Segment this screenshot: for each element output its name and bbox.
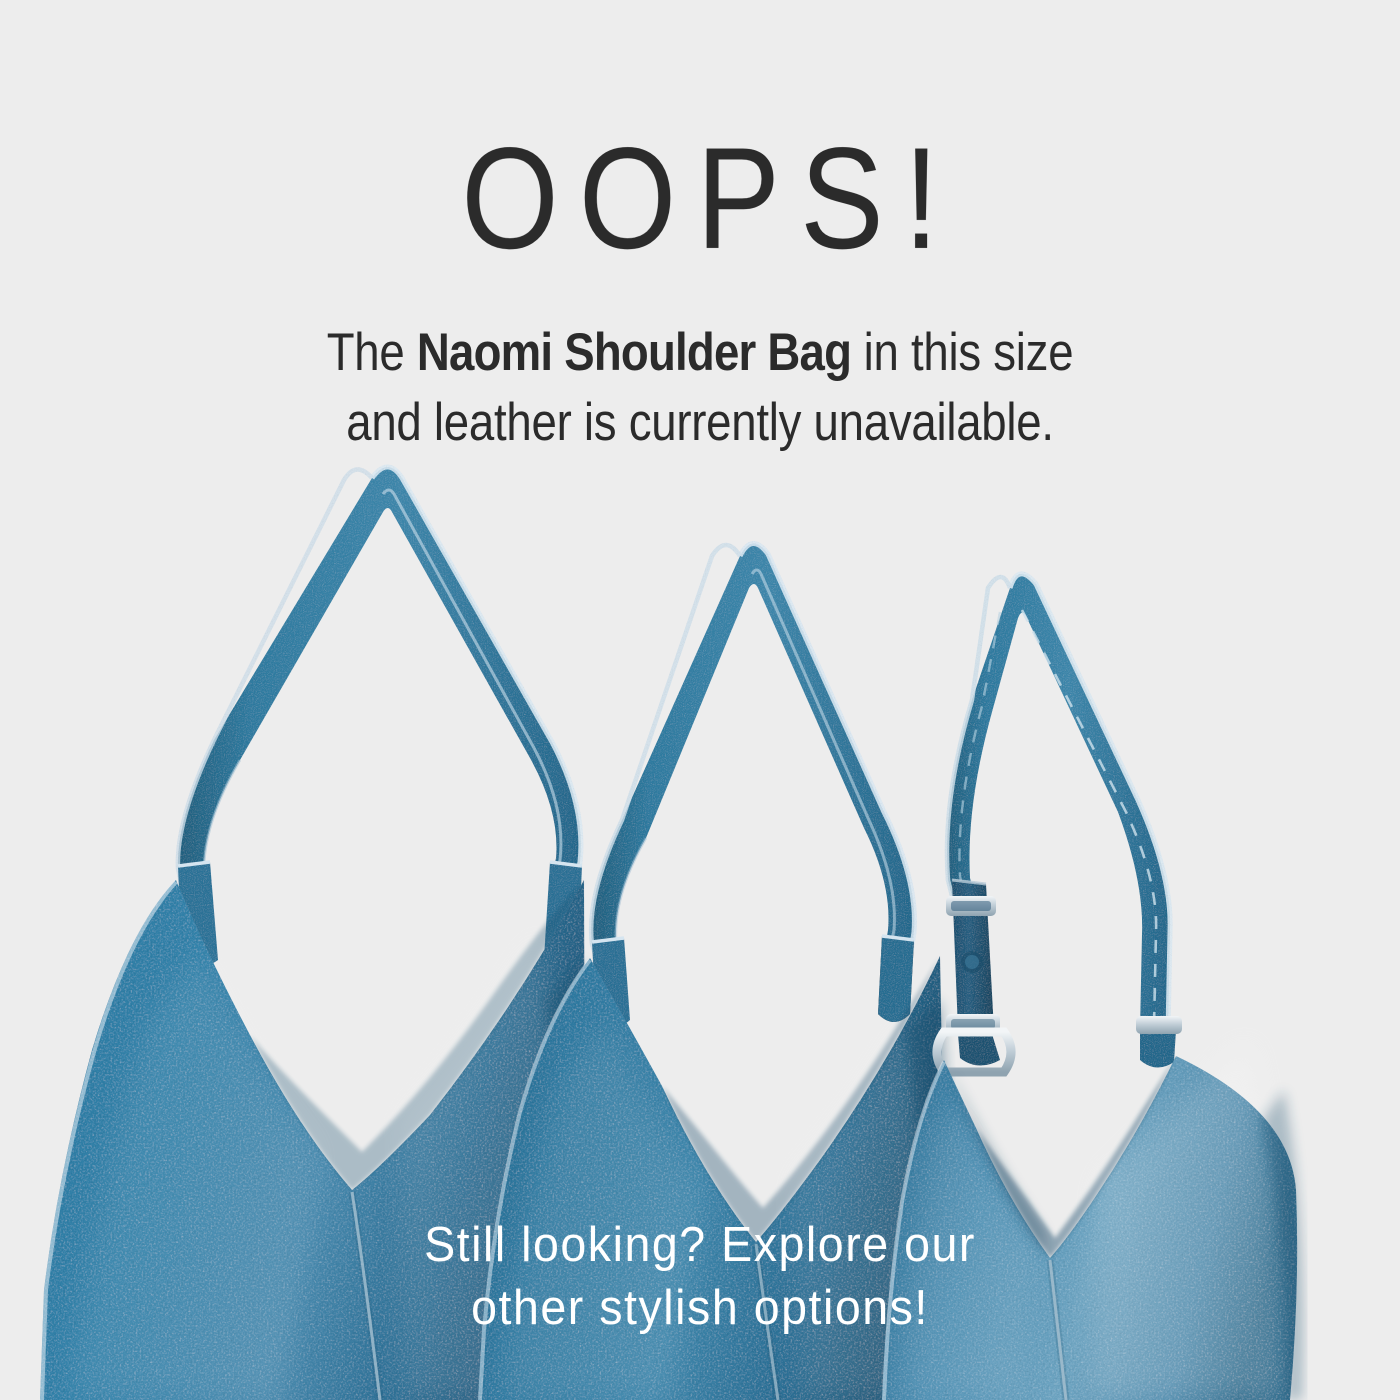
- bags-illustration: [0, 0, 1400, 1400]
- product-image: [0, 0, 1400, 1400]
- error-page: OOPS! The Naomi Shoulder Bag in this siz…: [0, 0, 1400, 1400]
